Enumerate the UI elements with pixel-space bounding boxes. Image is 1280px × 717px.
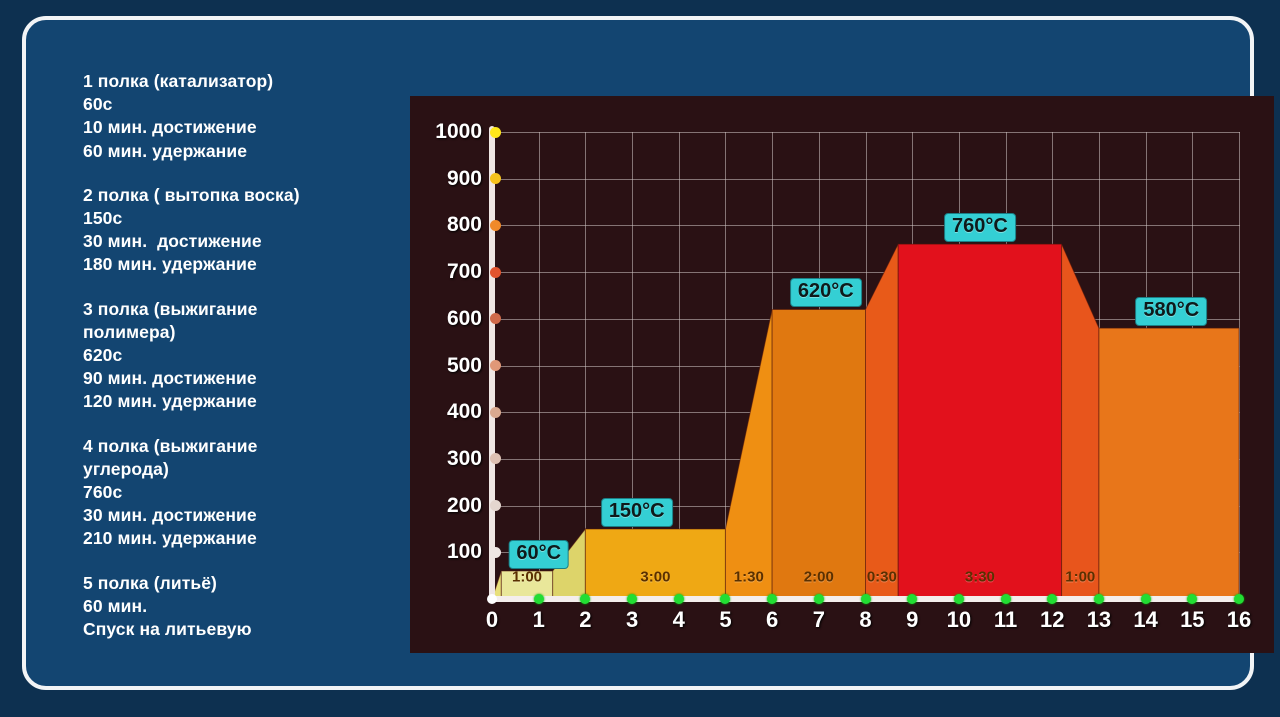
badge-150: 150°C — [601, 498, 673, 527]
step-line: 60 мин. удержание — [83, 140, 393, 163]
segment-duration-label: 2:00 — [804, 569, 834, 586]
x-tick-label: 15 — [1172, 607, 1212, 633]
y-tick-label: 200 — [410, 494, 482, 518]
y-tick-dot — [490, 547, 501, 558]
segment-duration-label: 3:00 — [640, 569, 670, 586]
segment-duration-label: 3:30 — [965, 569, 995, 586]
y-tick-label: 500 — [410, 354, 482, 378]
step-line: 760с — [83, 481, 393, 504]
y-tick-label: 800 — [410, 213, 482, 237]
step-line: 60 мин. — [83, 595, 393, 618]
x-tick-label: 14 — [1126, 607, 1166, 633]
step-block-shelf-4: 4 полка (выжиганиеуглерода)760с30 мин. д… — [83, 435, 393, 551]
x-tick-label: 10 — [939, 607, 979, 633]
step-line: 5 полка (литьё) — [83, 572, 393, 595]
process-steps-list: 1 полка (катализатор)60с10 мин. достижен… — [83, 70, 393, 670]
step-block-shelf-2: 2 полка ( вытопка воска)150с30 мин. дост… — [83, 184, 393, 277]
badge-620: 620°C — [790, 278, 862, 307]
step-block-shelf-1: 1 полка (катализатор)60с10 мин. достижен… — [83, 70, 393, 163]
step-line: 1 полка (катализатор) — [83, 70, 393, 93]
x-tick-label: 9 — [892, 607, 932, 633]
badge-60: 60°C — [508, 540, 569, 569]
x-tick-label: 13 — [1079, 607, 1119, 633]
y-tick-label: 900 — [410, 167, 482, 191]
y-tick-label: 1000 — [410, 120, 482, 144]
segment-duration-label: 1:00 — [1065, 569, 1095, 586]
x-tick-label: 11 — [986, 607, 1026, 633]
slide-root: 1 полка (катализатор)60с10 мин. достижен… — [0, 0, 1280, 717]
step-line: 210 мин. удержание — [83, 527, 393, 550]
step-line: Спуск на литьевую — [83, 618, 393, 641]
segment-duration-label: 1:30 — [734, 569, 764, 586]
step-line: 180 мин. удержание — [83, 253, 393, 276]
profile-segment-hold-760 — [898, 244, 1061, 599]
step-line: полимера) — [83, 321, 393, 344]
step-line: 30 мин. достижение — [83, 504, 393, 527]
x-tick-label: 4 — [659, 607, 699, 633]
step-line: 3 полка (выжигание — [83, 298, 393, 321]
x-tick-dot — [861, 594, 871, 604]
x-tick-dot — [814, 594, 824, 604]
profile-segment-hold-620 — [772, 309, 865, 599]
y-tick-dot — [490, 453, 501, 464]
slide-frame: 1 полка (катализатор)60с10 мин. достижен… — [22, 16, 1254, 690]
step-line: углерода) — [83, 458, 393, 481]
step-line: 150с — [83, 207, 393, 230]
x-axis-origin-dot — [487, 594, 497, 604]
x-tick-dot — [534, 594, 544, 604]
y-tick-dot — [490, 220, 501, 231]
y-tick-dot — [490, 313, 501, 324]
x-tick-label: 8 — [846, 607, 886, 633]
x-tick-label: 0 — [472, 607, 512, 633]
y-tick-dot — [490, 267, 501, 278]
step-line: 60с — [83, 93, 393, 116]
step-line: 120 мин. удержание — [83, 390, 393, 413]
step-block-shelf-5: 5 полка (литьё)60 мин.Спуск на литьевую — [83, 572, 393, 642]
y-tick-dot — [490, 360, 501, 371]
step-line: 620с — [83, 344, 393, 367]
profile-segment-hold-580 — [1099, 328, 1239, 599]
x-tick-label: 5 — [705, 607, 745, 633]
y-tick-label: 700 — [410, 260, 482, 284]
x-tick-label: 2 — [565, 607, 605, 633]
y-tick-label: 100 — [410, 540, 482, 564]
x-tick-dot — [674, 594, 684, 604]
y-tick-label: 400 — [410, 400, 482, 424]
y-tick-dot — [490, 173, 501, 184]
x-tick-label: 12 — [1032, 607, 1072, 633]
x-tick-label: 16 — [1219, 607, 1259, 633]
y-tick-dot — [490, 500, 501, 511]
step-block-shelf-3: 3 полка (выжиганиеполимера)620с90 мин. д… — [83, 298, 393, 414]
step-line: 2 полка ( вытопка воска) — [83, 184, 393, 207]
y-tick-dot — [490, 407, 501, 418]
profile-segment-ramp-to-760 — [866, 244, 899, 599]
profile-segment-ramp-to-580 — [1062, 244, 1099, 599]
x-tick-dot — [1001, 594, 1011, 604]
y-tick-dot — [490, 127, 501, 138]
step-line: 30 мин. достижение — [83, 230, 393, 253]
x-tick-label: 7 — [799, 607, 839, 633]
y-tick-label: 300 — [410, 447, 482, 471]
x-tick-dot — [1141, 594, 1151, 604]
badge-580: 580°C — [1135, 297, 1207, 326]
step-line: 90 мин. достижение — [83, 367, 393, 390]
segment-duration-label: 1:00 — [512, 569, 542, 586]
step-line: 4 полка (выжигание — [83, 435, 393, 458]
x-tick-dot — [954, 594, 964, 604]
step-line: 10 мин. достижение — [83, 116, 393, 139]
plot-area: 1002003004005006007008009001000012345678… — [410, 96, 1274, 653]
segment-duration-label: 0:30 — [867, 569, 897, 586]
profile-segment-hold-150 — [585, 529, 725, 599]
badge-760: 760°C — [944, 213, 1016, 242]
profile-segment-ramp-to-620 — [725, 309, 772, 599]
x-tick-label: 6 — [752, 607, 792, 633]
x-tick-dot — [627, 594, 637, 604]
x-tick-label: 3 — [612, 607, 652, 633]
firing-schedule-chart: 1002003004005006007008009001000012345678… — [410, 96, 1274, 653]
x-tick-label: 1 — [519, 607, 559, 633]
y-tick-label: 600 — [410, 307, 482, 331]
x-tick-dot — [1234, 594, 1244, 604]
x-tick-dot — [1094, 594, 1104, 604]
